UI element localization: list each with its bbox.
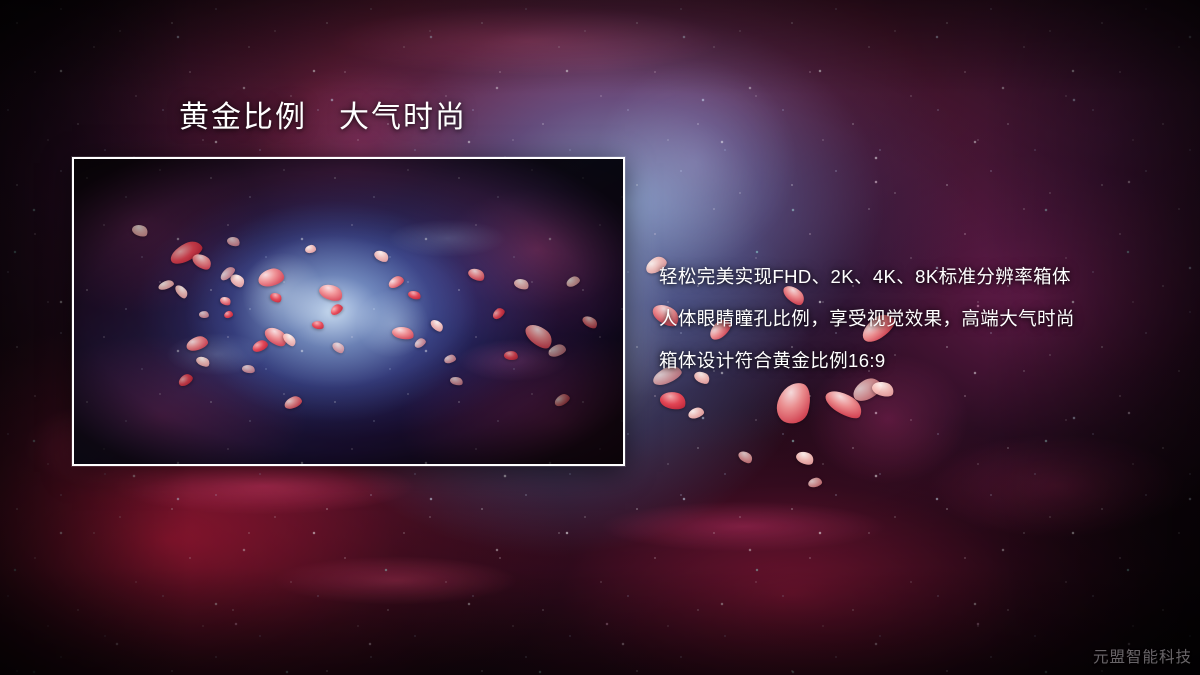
body-text-line-1: 轻松完美实现FHD、2K、4K、8K标准分辨率箱体	[659, 256, 1179, 298]
rose-petal	[658, 389, 687, 412]
page-title: 黄金比例 大气时尚	[179, 100, 467, 136]
watermark: 元盟智能科技	[1093, 645, 1192, 667]
rose-petal	[807, 477, 823, 489]
image-frame	[72, 157, 625, 466]
rose-petal	[687, 406, 705, 420]
rose-petal	[822, 385, 867, 423]
body-text-line-2: 人体眼睛瞳孔比例，享受视觉效果，高端大气时尚	[659, 298, 1179, 340]
rose-petal	[773, 378, 815, 427]
rose-petal	[736, 449, 754, 466]
body-text-line-3: 箱体设计符合黄金比例16:9	[659, 340, 1179, 382]
rose-petal	[794, 449, 815, 467]
presentation-slide: 黄金比例 大气时尚 轻松完美实现FHD、2K、4K、8K标准分辨率箱体 人体眼睛…	[0, 0, 1200, 675]
image-frame-content	[74, 159, 623, 464]
panel-vignette	[74, 159, 623, 464]
body-text-block: 轻松完美实现FHD、2K、4K、8K标准分辨率箱体 人体眼睛瞳孔比例，享受视觉效…	[659, 256, 1179, 382]
